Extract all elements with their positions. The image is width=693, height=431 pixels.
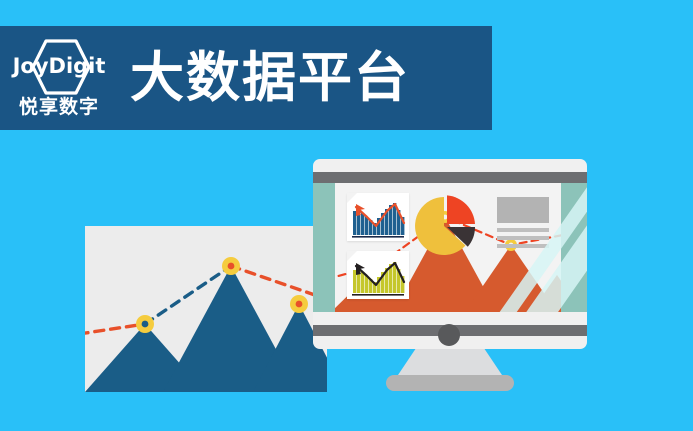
text-line <box>497 244 549 248</box>
mountain-chart-panel <box>85 226 327 392</box>
axis-line <box>352 236 404 238</box>
trend-marker <box>136 315 154 333</box>
screen-left-strip <box>313 183 335 312</box>
page-fold-corner <box>347 193 357 203</box>
trend-marker <box>222 257 240 275</box>
header-banner: JoyDigit 悦享数字 大数据平台 <box>0 26 492 130</box>
screen-right-strip <box>561 183 587 312</box>
text-line <box>497 228 549 232</box>
monitor-stand-base <box>386 375 514 391</box>
desktop-monitor <box>313 159 587 349</box>
trend-dash-segment-1 <box>85 324 145 334</box>
axis-line <box>352 294 404 296</box>
brand-logo: JoyDigit 悦享数字 <box>0 26 118 130</box>
pie-slice-red <box>447 195 475 224</box>
page-title: 大数据平台 <box>130 51 410 105</box>
trend-marker <box>290 295 308 313</box>
text-line <box>497 236 549 240</box>
pie-chart[interactable] <box>413 195 475 257</box>
monitor-stand-neck <box>396 349 504 378</box>
brand-wordmark: JoyDigit <box>0 54 118 78</box>
monitor-screen <box>313 183 587 312</box>
left-blue-mountain-chart <box>85 226 327 392</box>
olive-bar-chart-card[interactable] <box>347 251 409 299</box>
monitor-top-bezel <box>313 172 587 183</box>
brand-subtitle: 悦享数字 <box>0 92 118 119</box>
page-fold-corner <box>347 251 357 261</box>
poster-canvas: JoyDigit 悦享数字 大数据平台 <box>0 0 693 431</box>
blue-bar-chart-card[interactable] <box>347 193 409 241</box>
power-indicator <box>438 324 460 346</box>
document-placeholder <box>497 197 549 248</box>
image-placeholder <box>497 197 549 223</box>
